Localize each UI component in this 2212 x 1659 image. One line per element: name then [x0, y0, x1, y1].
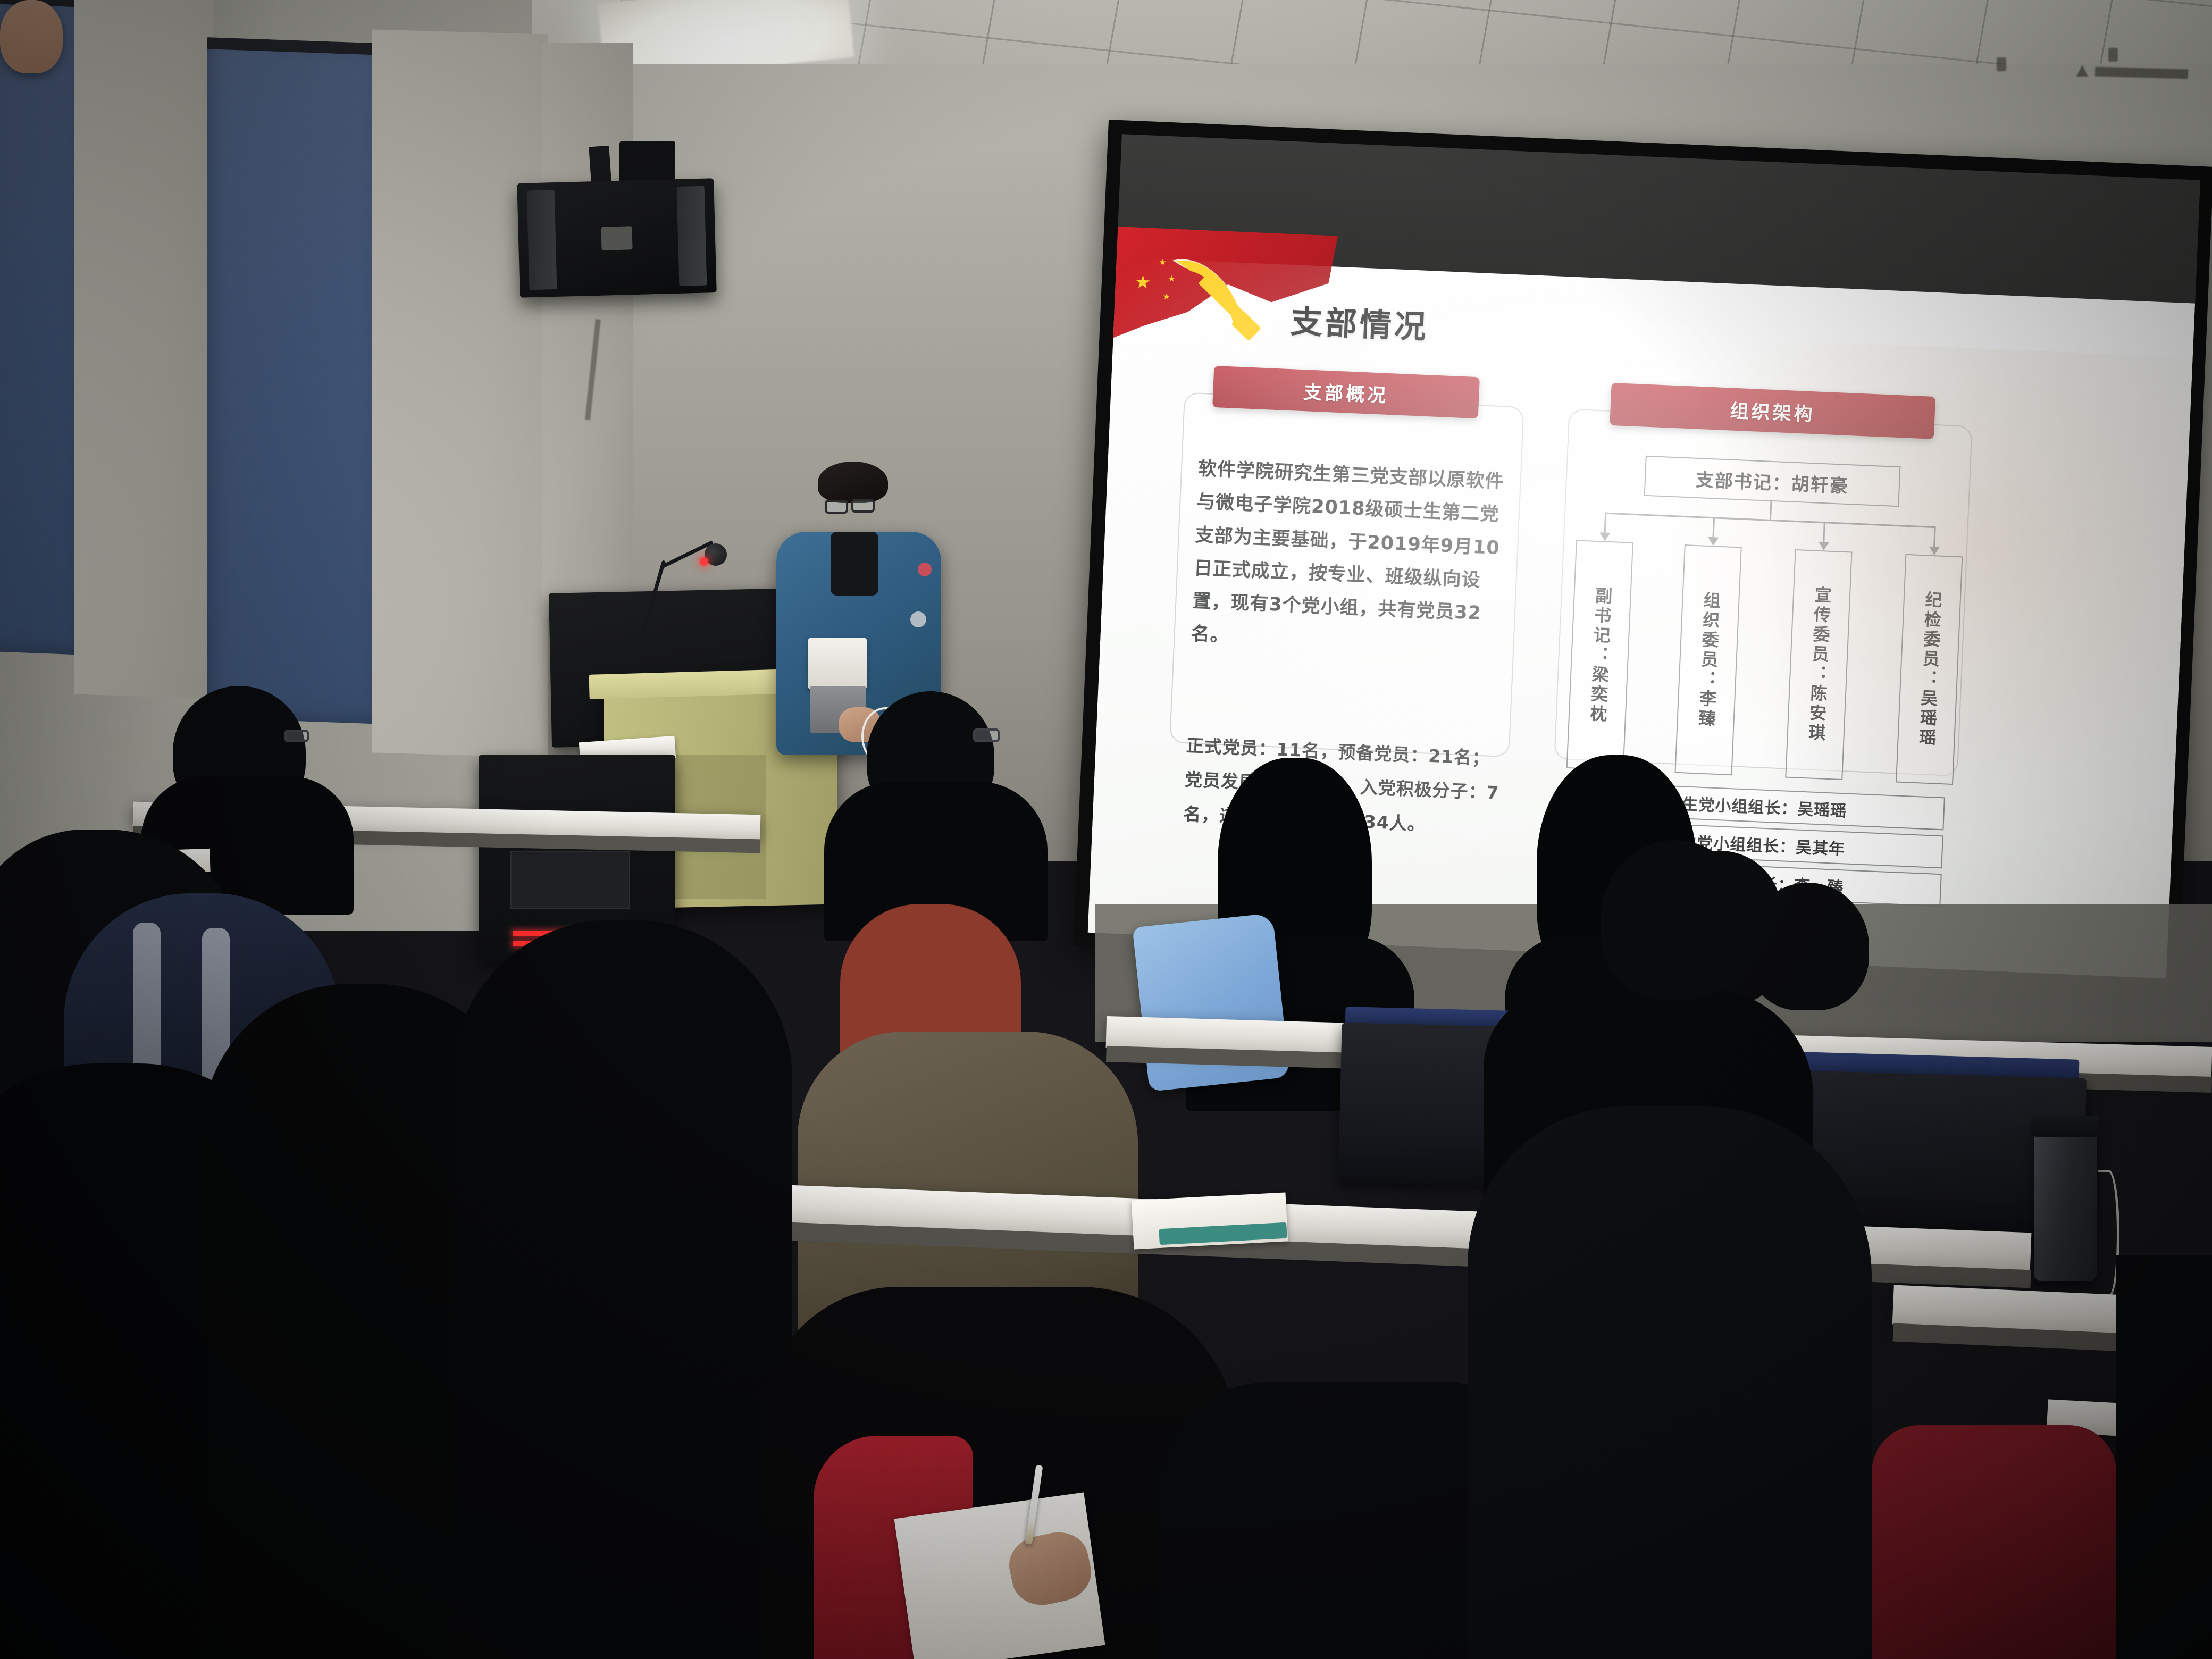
branch-overview-paragraph: 软件学院研究生第三党支部以原软件与微电子学院2018级硕士生第二党支部为主要基础… — [1190, 453, 1512, 665]
bottle-cap[interactable] — [2031, 1116, 2099, 1137]
presenter-hair — [818, 462, 888, 503]
flag-star-big: ★ — [1134, 273, 1151, 291]
audience-body-1 — [141, 776, 354, 915]
eyeglasses-right-icon — [851, 499, 875, 513]
rack-display-panel — [510, 851, 630, 909]
wall-pillar-3 — [542, 43, 633, 617]
eyeglasses-left-icon — [825, 500, 848, 514]
classroom-photo-scene: ★ ★ ★ ★ 支部情况 支部概况 软件学院研究生第三党支部以原软件与微电子学院… — [0, 0, 2212, 1659]
audience-glasses-icon — [284, 730, 309, 742]
rack-led-3 — [602, 935, 627, 945]
presenter-inner-shirt — [831, 532, 878, 596]
foreground-person-hooded — [64, 893, 340, 1276]
audience-head-7 — [1747, 883, 1869, 1010]
rack-led-1 — [513, 931, 576, 936]
audience-glasses-icon-2 — [973, 728, 1000, 742]
flag-star-2: ★ — [1168, 274, 1176, 283]
hood-stripe-1 — [133, 923, 161, 1146]
org-arrow-4-icon — [1929, 547, 1940, 556]
slide-title: 支部情况 — [1289, 296, 1429, 348]
presenter-name-badge — [808, 638, 867, 689]
wall-fixture-1 — [1997, 57, 2006, 71]
window-blind-left — [0, 0, 85, 655]
org-arrow-3-icon — [1819, 542, 1830, 551]
org-arrow-1-icon — [1599, 532, 1611, 541]
jacket-logo — [910, 611, 926, 627]
microphone-led-indicator — [700, 557, 708, 566]
window-blind-center — [207, 37, 383, 724]
org-arrow-2-icon — [1708, 537, 1719, 546]
foreground-person-left-2 — [0, 1063, 308, 1659]
org-node-discipline-member: 纪检委员：吴瑶瑶 — [1896, 554, 1963, 785]
speaker-logo — [601, 226, 632, 250]
org-node-publicity-member: 宣传委员：陈安琪 — [1785, 549, 1852, 780]
flag-star-1: ★ — [1159, 258, 1167, 267]
hammer-sickle-icon — [1178, 255, 1261, 347]
presenter — [0, 0, 63, 73]
org-node-organization-member: 组织委员：李臻 — [1674, 544, 1741, 775]
flag-star-3: ★ — [1163, 292, 1171, 301]
rack-led-2 — [513, 941, 562, 946]
speaker-grille-left — [527, 190, 557, 290]
wall-sign-triangle-icon — [2076, 65, 2088, 77]
bottle-strap — [2098, 1170, 2119, 1297]
red-garment-right — [1872, 1425, 2116, 1659]
water-bottle[interactable] — [2034, 1127, 2097, 1281]
speaker-grille-right — [677, 186, 707, 286]
presenter-face — [0, 0, 63, 73]
desk-row-corner — [2047, 1399, 2212, 1441]
wall-speaker-icon — [517, 178, 717, 298]
rack-led-strip — [505, 925, 635, 953]
foreground-bag-dark — [1159, 1382, 1574, 1659]
hood-stripe-2 — [202, 928, 230, 1151]
wall-pillar-2 — [372, 29, 548, 757]
foreground-glasses-icon — [617, 1026, 651, 1044]
audience-papers-1 — [82, 849, 210, 876]
jacket-shoulder-tab — [918, 563, 932, 576]
foreground-person-left-3 — [202, 984, 532, 1659]
wall-pillar-1 — [74, 0, 213, 699]
wall-fixture-2 — [2108, 48, 2118, 62]
org-node-deputy-secretary: 副书记：梁奕枕 — [1566, 540, 1633, 770]
